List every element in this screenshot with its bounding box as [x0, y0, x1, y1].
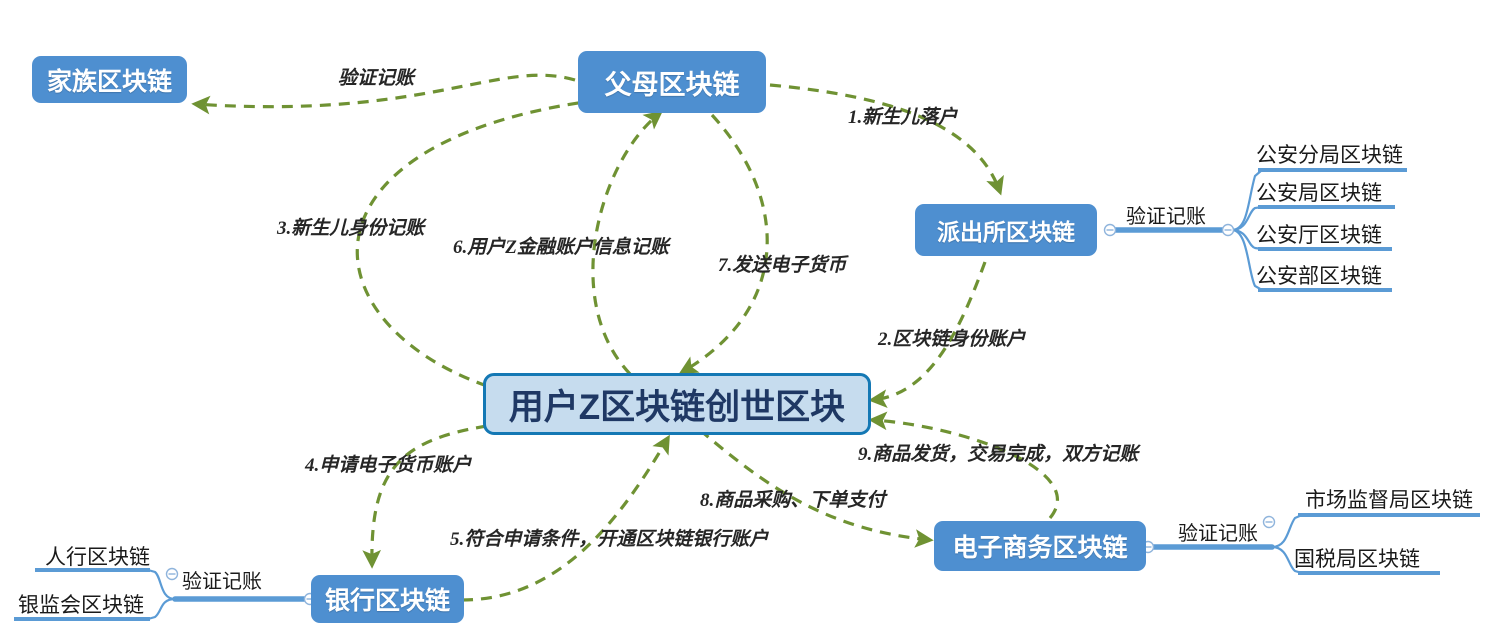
- arrow-label-step-4: 4.申请电子货币账户: [305, 450, 471, 477]
- diagram-canvas: 家族区块链 父母区块链 派出所区块链 用户Z区块链创世区块 银行区块链 电子商务…: [0, 0, 1495, 640]
- arrow-label-step-2: 2.区块链身份账户: [878, 324, 1025, 351]
- arrow-label-verify-family: 验证记账: [338, 63, 414, 90]
- node-bank-blockchain[interactable]: 银行区块链: [311, 575, 464, 623]
- arrow-label-step-9: 9.商品发货，交易完成，双方记账: [858, 439, 1138, 466]
- node-parents-blockchain[interactable]: 父母区块链: [578, 51, 766, 113]
- branch-item-police-3[interactable]: 公安部区块链: [1256, 260, 1382, 290]
- arrow-label-step-7: 7.发送电子货币: [718, 250, 846, 277]
- edge-parents-to-center-7: [682, 115, 767, 372]
- arrow-label-step-6: 6.用户Z金融账户信息记账: [453, 232, 669, 259]
- node-user-z-genesis-block[interactable]: 用户Z区块链创世区块: [483, 373, 871, 435]
- node-user-z-genesis-block-label: 用户Z区块链创世区块: [509, 379, 845, 430]
- edge-ecommerce-to-center-9: [872, 420, 1057, 518]
- branch-item-bank-0[interactable]: 人行区块链: [45, 541, 150, 571]
- branch-label-bank-verify: 验证记账: [182, 565, 262, 594]
- arrow-label-step-5: 5.符合申请条件，开通区块链银行账户: [450, 524, 768, 551]
- branch-label-ecommerce-verify: 验证记账: [1178, 517, 1258, 546]
- branch-label-police-verify: 验证记账: [1126, 200, 1206, 229]
- arrow-label-step-3: 3.新生儿身份记账: [277, 213, 424, 240]
- node-family-blockchain-label: 家族区块链: [47, 62, 172, 98]
- branch-item-bank-1[interactable]: 银监会区块链: [18, 589, 144, 619]
- arrow-label-step-8: 8.商品采购、下单支付: [700, 485, 885, 512]
- branch-item-police-2[interactable]: 公安厅区块链: [1256, 219, 1382, 249]
- node-bank-blockchain-label: 银行区块链: [325, 581, 450, 617]
- branch-item-ecommerce-0[interactable]: 市场监督局区块链: [1305, 484, 1473, 514]
- node-ecommerce-blockchain[interactable]: 电子商务区块链: [934, 521, 1146, 571]
- node-family-blockchain[interactable]: 家族区块链: [32, 56, 187, 103]
- branch-item-ecommerce-1[interactable]: 国税局区块链: [1294, 543, 1420, 573]
- node-parents-blockchain-label: 父母区块链: [605, 63, 740, 102]
- arrow-label-step-1: 1.新生儿落户: [848, 102, 957, 129]
- node-police-station-blockchain-label: 派出所区块链: [937, 213, 1075, 247]
- branch-item-police-0[interactable]: 公安分局区块链: [1256, 139, 1403, 169]
- branch-item-police-1[interactable]: 公安局区块链: [1256, 177, 1382, 207]
- edge-bank-to-center-5: [462, 438, 668, 600]
- node-ecommerce-blockchain-label: 电子商务区块链: [952, 528, 1127, 564]
- node-police-station-blockchain[interactable]: 派出所区块链: [915, 204, 1097, 256]
